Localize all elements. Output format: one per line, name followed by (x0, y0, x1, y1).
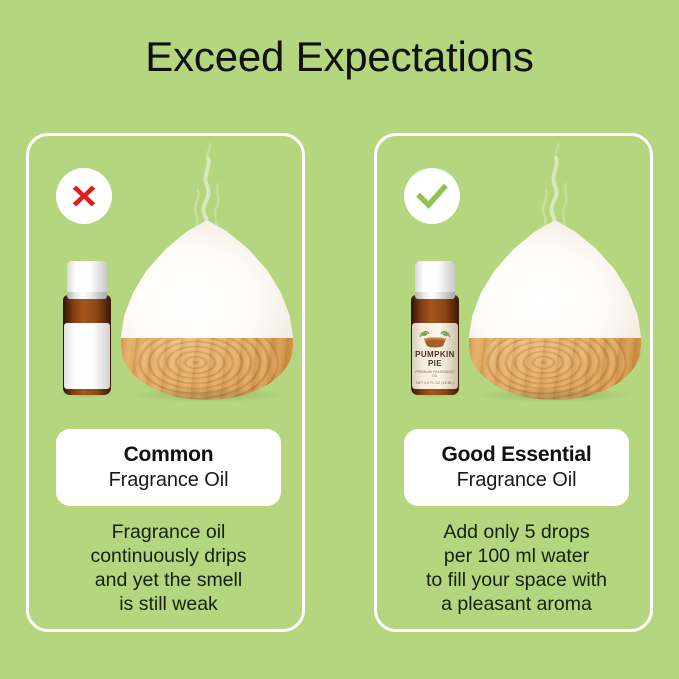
product-kind: Fragrance Oil (457, 468, 577, 493)
red-x-icon (69, 181, 99, 211)
page-title: Exceed Expectations (0, 32, 679, 82)
bottle-label-sub1: PREMIUM FRAGRANCE OIL (412, 370, 458, 379)
name-plate-common: Common Fragrance Oil (56, 429, 281, 506)
diffuser-device-good-essential (469, 220, 641, 390)
caption-line: continuously drips (39, 544, 298, 568)
diffuser-dome (121, 220, 293, 352)
caption-line: is still weak (39, 592, 298, 616)
caption-good-essential: Add only 5 drops per 100 ml water to fil… (387, 520, 646, 616)
diffuser-device-common (121, 220, 293, 390)
caption-line: to fill your space with (387, 568, 646, 592)
bottle-cap (415, 261, 455, 299)
product-brand: Good Essential (441, 442, 591, 468)
bottle-label-sub2: NET 0.5 FL OZ (15 ML) (416, 381, 454, 385)
caption-line: per 100 ml water (387, 544, 646, 568)
caption-line: and yet the smell (39, 568, 298, 592)
caption-line: Fragrance oil (39, 520, 298, 544)
diffuser-dome (469, 220, 641, 352)
caption-common: Fragrance oil continuously drips and yet… (39, 520, 298, 616)
name-plate-good-essential: Good Essential Fragrance Oil (404, 429, 629, 506)
bottle-label-pumpkin-pie: PUMPKIN PIE PREMIUM FRAGRANCE OIL NET 0.… (412, 323, 458, 389)
caption-line: a pleasant aroma (387, 592, 646, 616)
status-badge-negative (56, 168, 112, 224)
oil-bottle-common (63, 261, 111, 395)
pumpkin-pie-slice-icon (412, 326, 458, 351)
caption-line: Add only 5 drops (387, 520, 646, 544)
status-badge-positive (404, 168, 460, 224)
comparison-card-common: Common Fragrance Oil Fragrance oil conti… (26, 133, 305, 632)
product-kind: Fragrance Oil (109, 468, 229, 493)
green-check-icon (415, 179, 449, 213)
oil-bottle-good-essential: PUMPKIN PIE PREMIUM FRAGRANCE OIL NET 0.… (411, 261, 459, 395)
bottle-cap (67, 261, 107, 299)
diffuser-shadow (129, 388, 285, 402)
diffuser-shadow (477, 388, 633, 402)
comparison-card-good-essential: PUMPKIN PIE PREMIUM FRAGRANCE OIL NET 0.… (374, 133, 653, 632)
bottle-label-name: PUMPKIN PIE (412, 351, 458, 368)
product-brand: Common (124, 442, 214, 468)
bottle-label-blank (64, 323, 110, 389)
